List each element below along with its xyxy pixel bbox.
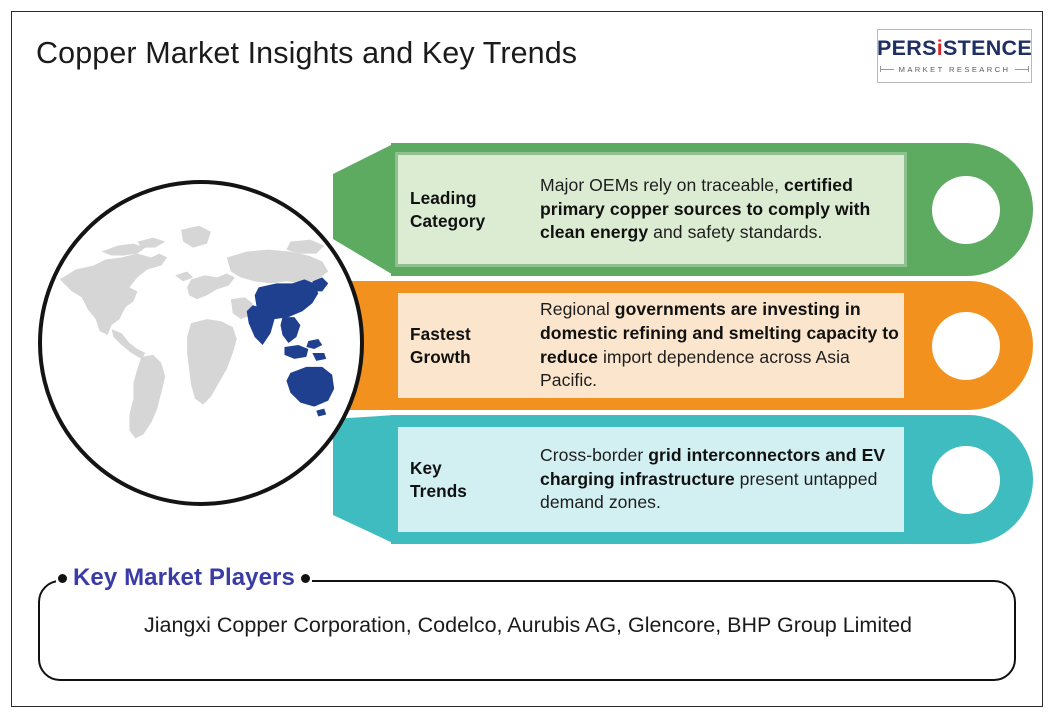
- insight-tag-leading-category[interactable]: Leading Category Major OEMs rely on trac…: [333, 143, 1033, 276]
- tag-label-line2: Category: [410, 210, 534, 232]
- tag-label: Key Trends: [410, 457, 534, 501]
- key-market-players-title-group: Key Market Players: [56, 566, 312, 590]
- tag-hole-icon: [932, 176, 1000, 244]
- insight-tag-key-trends[interactable]: Key Trends Cross-border grid interconnec…: [333, 415, 1033, 544]
- bullet-dot-right-icon: [301, 574, 310, 583]
- tag-text-part-0: Regional: [540, 299, 615, 319]
- tag-text-part-0: Major OEMs rely on traceable,: [540, 175, 784, 195]
- key-market-players-list: Jiangxi Copper Corporation, Codelco, Aur…: [78, 611, 978, 640]
- tag-label-line1: Leading: [410, 187, 534, 209]
- tag-text-part-2: and safety standards.: [648, 222, 822, 242]
- key-market-players-title: Key Market Players: [73, 566, 295, 590]
- tag-label-line2: Trends: [410, 480, 534, 502]
- insight-tag-fastest-growth[interactable]: Fastest Growth Regional governments are …: [333, 281, 1033, 410]
- tag-description: Regional governments are investing in do…: [534, 298, 904, 392]
- map-highlight-asia-pacific: [247, 277, 334, 416]
- tag-content-panel: Fastest Growth Regional governments are …: [395, 290, 907, 401]
- tag-hole-icon: [932, 312, 1000, 380]
- tag-label: Fastest Growth: [410, 323, 534, 367]
- tag-label-line2: Growth: [410, 346, 534, 368]
- tag-text-part-0: Cross-border: [540, 445, 648, 465]
- tag-content-panel: Key Trends Cross-border grid interconnec…: [395, 424, 907, 535]
- tag-description: Cross-border grid interconnectors and EV…: [534, 444, 904, 515]
- tag-description: Major OEMs rely on traceable, certified …: [534, 174, 904, 245]
- tag-arrow-pointer-icon: [333, 143, 395, 276]
- tag-label-line1: Key: [410, 457, 534, 479]
- tag-label-line1: Fastest: [410, 323, 534, 345]
- infographic-root: Copper Market Insights and Key Trends PE…: [0, 0, 1056, 720]
- tag-hole-icon: [932, 446, 1000, 514]
- tag-label: Leading Category: [410, 187, 534, 231]
- bullet-dot-left-icon: [58, 574, 67, 583]
- tag-content-panel: Leading Category Major OEMs rely on trac…: [395, 152, 907, 267]
- tag-arrow-pointer-icon: [333, 415, 395, 544]
- world-map-globe-icon: [38, 180, 364, 506]
